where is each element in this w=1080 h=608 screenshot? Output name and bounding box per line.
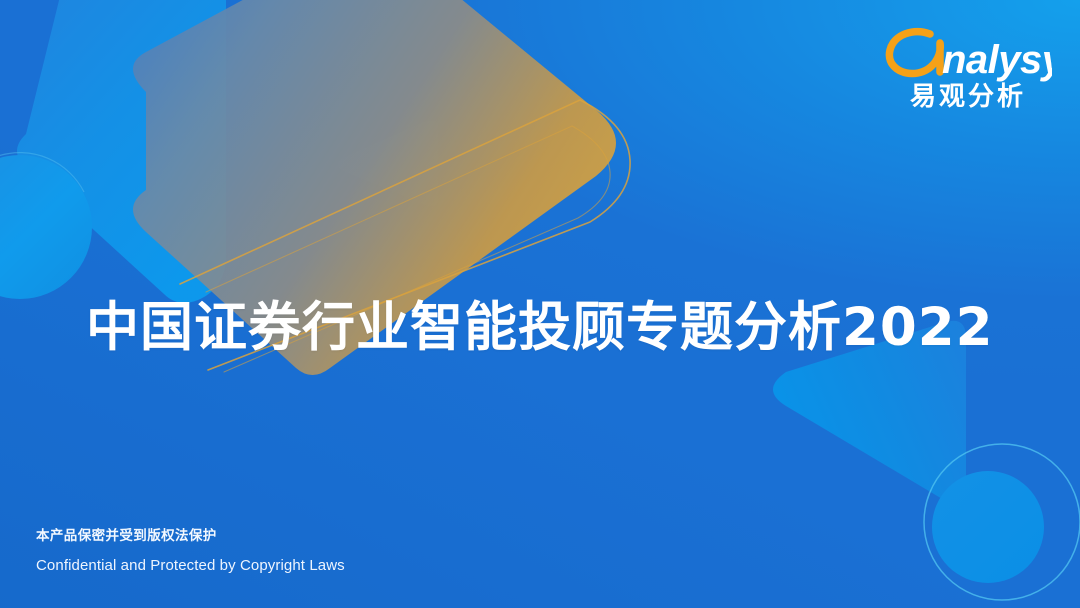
copyright-notice-en: Confidential and Protected by Copyright … (36, 556, 345, 576)
brand-logo-cn: 易观分析 (884, 80, 1052, 114)
page-title: 中国证券行业智能投顾专题分析2022 (86, 292, 1016, 364)
copyright-footer: 本产品保密并受到版权法保护 Confidential and Protected… (36, 525, 345, 576)
circle-bottom-right (932, 471, 1044, 583)
analysys-swoosh-a-icon: nalysys (884, 26, 1052, 84)
brand-logo: nalysys 易观分析 (884, 26, 1052, 122)
svg-text:nalysys: nalysys (942, 38, 1052, 82)
copyright-notice-cn: 本产品保密并受到版权法保护 (36, 525, 345, 547)
cover-slide: nalysys 易观分析 中国证券行业智能投顾专题分析2022 本产品保密并受到… (0, 0, 1080, 608)
